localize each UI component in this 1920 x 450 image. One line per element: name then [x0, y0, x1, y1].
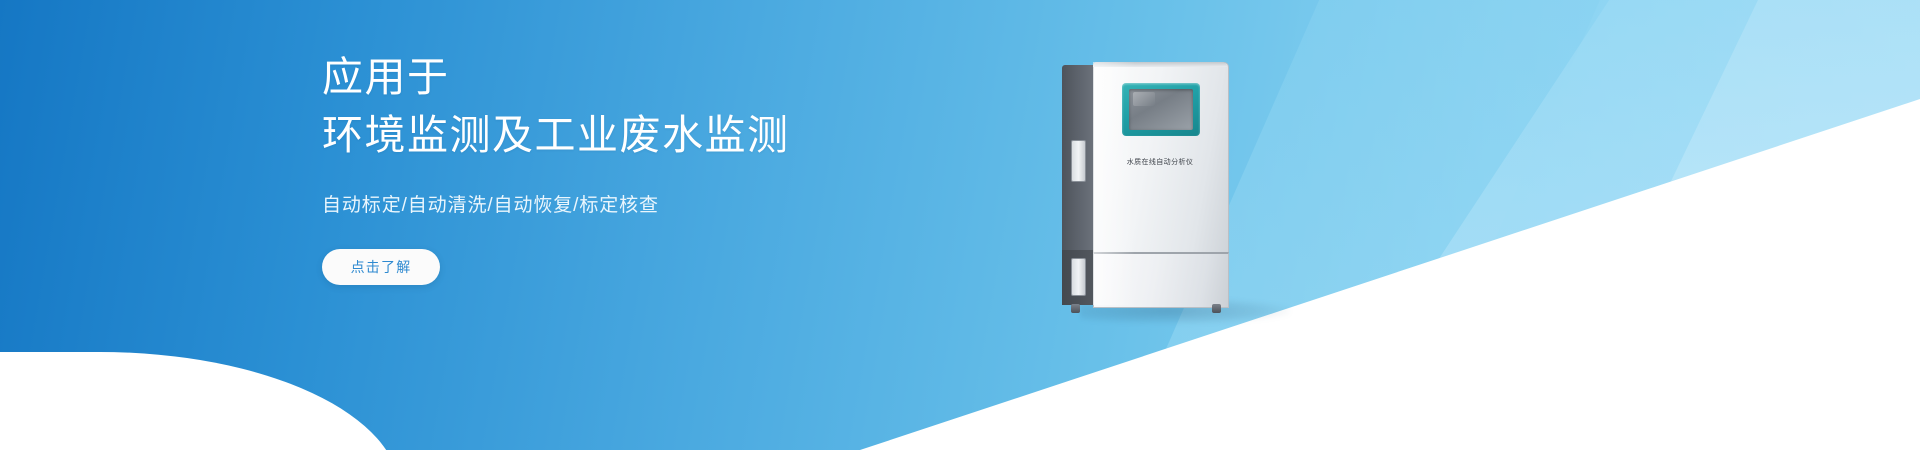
headline-line-1: 应用于 — [322, 48, 1102, 106]
banner-subtitle: 自动标定/自动清洗/自动恢复/标定核查 — [322, 190, 1102, 217]
screen-glint — [1133, 92, 1155, 106]
hero-banner: 应用于 环境监测及工业废水监测 自动标定/自动清洗/自动恢复/标定核查 点击了解… — [0, 0, 1920, 450]
device-label: 水质在线自动分析仪 — [1093, 157, 1227, 167]
banner-copy: 应用于 环境监测及工业废水监测 自动标定/自动清洗/自动恢复/标定核查 点击了解 — [322, 48, 1102, 285]
product-image-water-analyzer: 水质在线自动分析仪 — [1062, 62, 1322, 322]
cabinet-lower-door — [1093, 252, 1229, 308]
caster-left — [1071, 304, 1080, 313]
cabinet-top-edge — [1093, 62, 1227, 67]
cabinet-upper-handle — [1071, 140, 1086, 182]
display-screen — [1129, 89, 1193, 130]
display-bezel — [1122, 83, 1200, 136]
headline-line-2: 环境监测及工业废水监测 — [322, 106, 1102, 164]
learn-more-button[interactable]: 点击了解 — [322, 249, 440, 285]
caster-right — [1212, 304, 1221, 313]
cabinet-lower-handle — [1071, 258, 1086, 296]
